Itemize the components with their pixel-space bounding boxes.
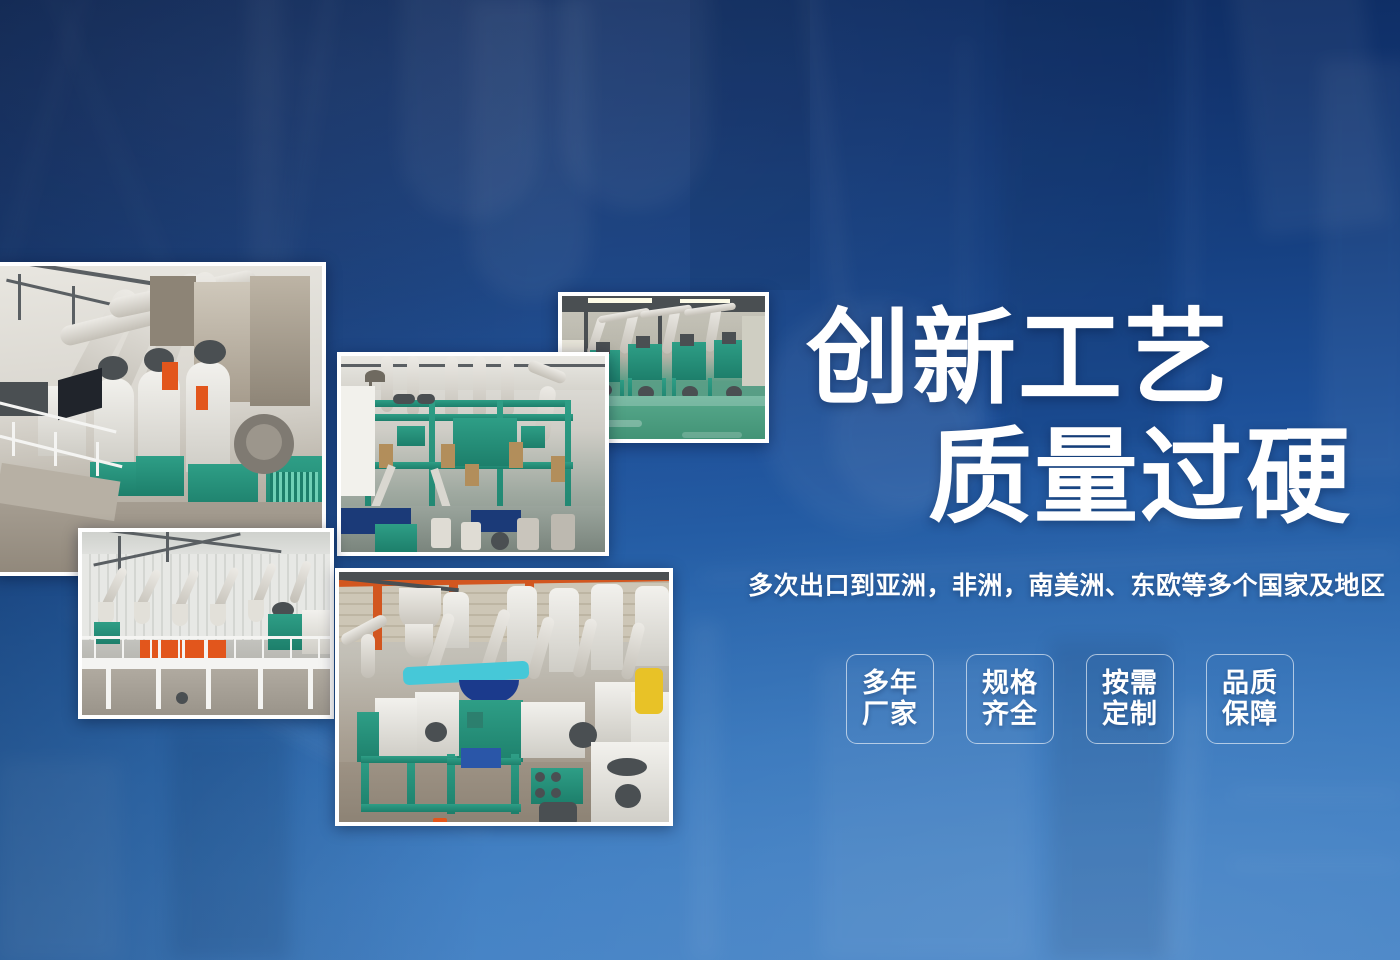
feature-badge-0[interactable]: 多年 厂家 xyxy=(846,654,934,744)
feature-badge-3[interactable]: 品质 保障 xyxy=(1206,654,1294,744)
gallery-photo-3[interactable] xyxy=(337,352,609,556)
feature-badge-list: 多年 厂家 规格 齐全 按需 定制 品质 保障 xyxy=(846,654,1294,744)
gallery-photo-1-image xyxy=(0,266,322,572)
gallery-photo-4[interactable] xyxy=(78,528,334,719)
gallery-photo-3-image xyxy=(341,356,605,552)
headline-line-1: 创新工艺 xyxy=(806,301,1230,417)
promo-banner: 创新工艺 质量过硬 多次出口到亚洲，非洲，南美洲、东欧等多个国家及地区 多年 厂… xyxy=(0,0,1400,960)
feature-badge-3-line-1: 品质 xyxy=(1222,668,1278,699)
feature-badge-1-line-2: 齐全 xyxy=(982,699,1038,730)
gallery-photo-5-image xyxy=(339,572,669,822)
feature-badge-0-line-1: 多年 xyxy=(862,668,918,699)
feature-badge-2[interactable]: 按需 定制 xyxy=(1086,654,1174,744)
feature-badge-2-line-2: 定制 xyxy=(1102,699,1158,730)
subtitle: 多次出口到亚洲，非洲，南美洲、东欧等多个国家及地区 xyxy=(748,566,1386,602)
headline: 创新工艺 质量过硬 xyxy=(806,300,1352,537)
headline-line-2: 质量过硬 xyxy=(928,419,1352,538)
feature-badge-1-line-1: 规格 xyxy=(982,668,1038,699)
feature-badge-2-line-1: 按需 xyxy=(1102,668,1158,699)
gallery-photo-5[interactable] xyxy=(335,568,673,826)
feature-badge-0-line-2: 厂家 xyxy=(862,699,918,730)
gallery-photo-4-image xyxy=(82,532,330,715)
feature-badge-3-line-2: 保障 xyxy=(1222,699,1278,730)
feature-badge-1[interactable]: 规格 齐全 xyxy=(966,654,1054,744)
